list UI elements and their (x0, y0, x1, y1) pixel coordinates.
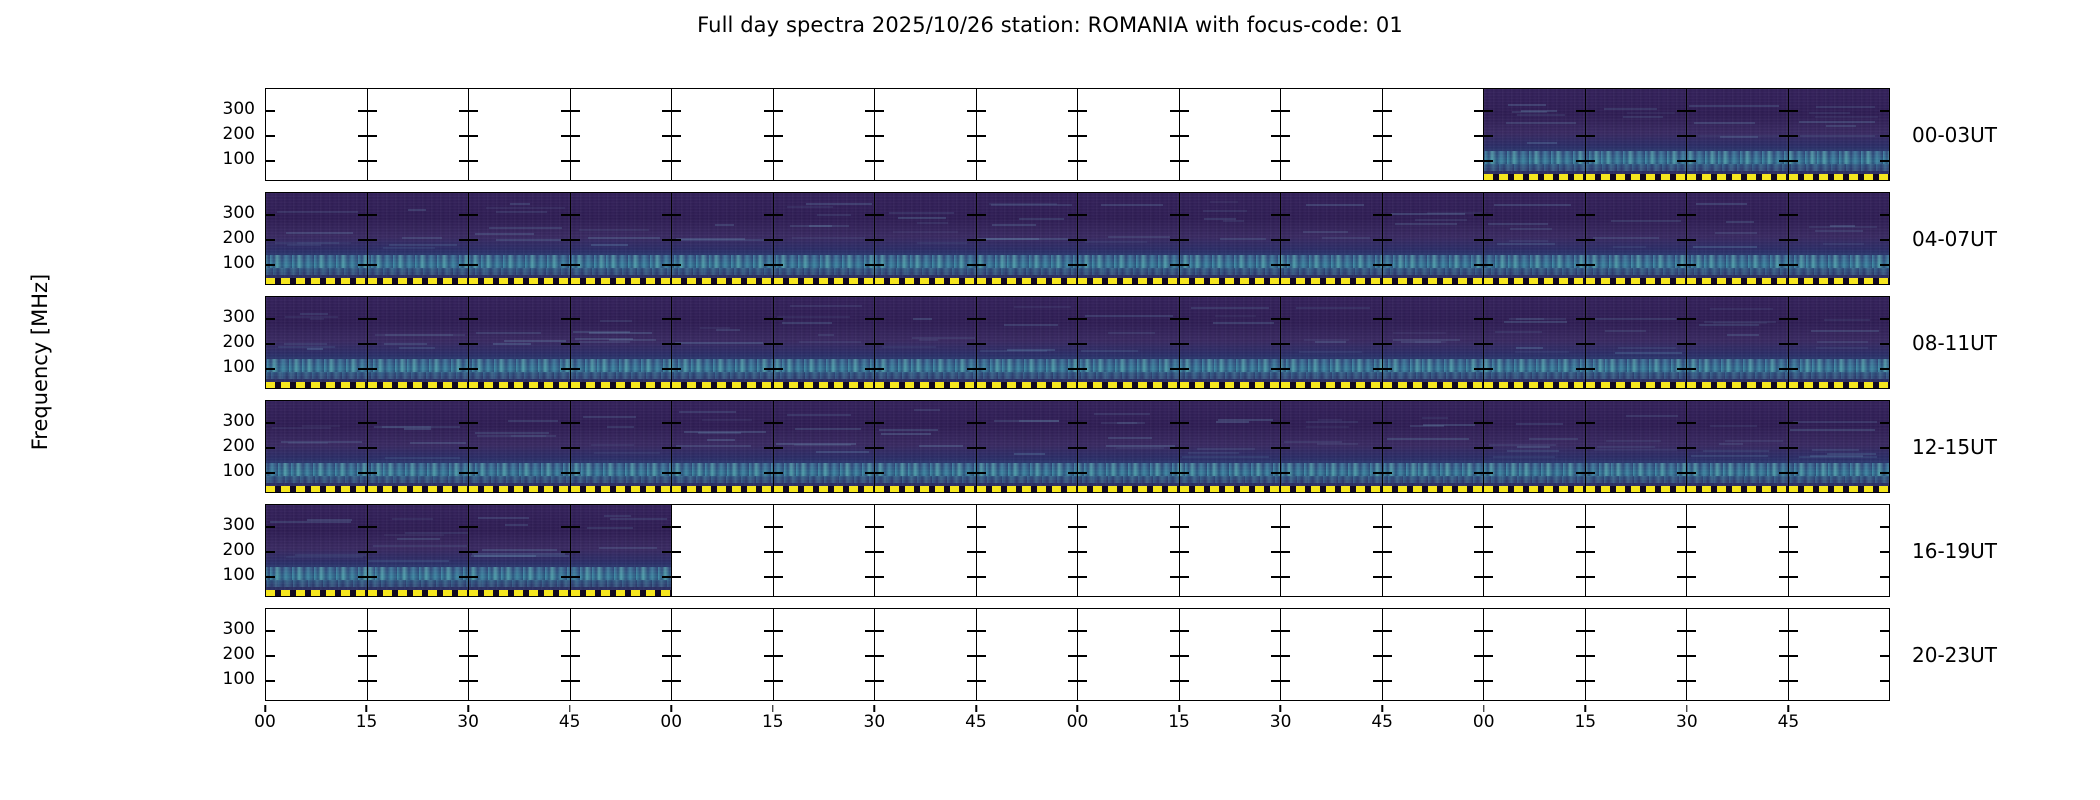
emission-streak (591, 444, 634, 446)
empty-cell (1383, 89, 1485, 180)
spectrogram-cell (571, 401, 673, 492)
y-tick-mark (1677, 110, 1686, 112)
y-tick-mark (774, 264, 783, 266)
emission-streak (486, 207, 565, 209)
emission-streak (475, 233, 534, 235)
y-tick-mark (1373, 368, 1382, 370)
y-tick-mark (865, 318, 874, 320)
emission-streak (1497, 243, 1555, 245)
y-tick-mark (1484, 318, 1493, 320)
y-tick-mark (672, 576, 681, 578)
y-tick-mark (1880, 472, 1889, 474)
y-tick-mark (1281, 264, 1290, 266)
y-tick-mark (662, 630, 671, 632)
y-tick-mark (266, 551, 275, 553)
y-tick-mark (1789, 551, 1798, 553)
empty-cell (1586, 505, 1688, 596)
spectrogram-row (265, 400, 1890, 493)
y-tick-mark (1170, 630, 1179, 632)
y-tick-mark (865, 472, 874, 474)
marker-band (1687, 174, 1788, 180)
emission-streak (1296, 307, 1371, 309)
y-tick-mark (1576, 447, 1585, 449)
emission-streak (1507, 450, 1559, 452)
spectrogram-cell (1687, 401, 1789, 492)
emission-streak (475, 432, 549, 434)
y-tick-mark (358, 239, 367, 241)
empty-cell (1078, 89, 1180, 180)
y-tick-mark (1779, 264, 1788, 266)
marker-band (977, 486, 1078, 492)
emission-band-secondary (1180, 372, 1281, 379)
marker-band (266, 382, 367, 388)
emission-band-secondary (977, 268, 1078, 275)
y-tick-mark (865, 680, 874, 682)
emission-streak (389, 244, 457, 246)
emission-streak (272, 427, 331, 429)
y-tick-mark (1373, 160, 1382, 162)
y-tick-mark (1170, 368, 1179, 370)
y-tick-mark (1271, 447, 1280, 449)
y-tick-mark (662, 526, 671, 528)
emission-band-secondary (1078, 476, 1179, 483)
y-tick-mark (571, 472, 580, 474)
y-tick-label: 300 (0, 203, 255, 223)
y-tick-mark (1474, 422, 1483, 424)
emission-streak (1415, 219, 1467, 221)
emission-band-secondary (469, 476, 570, 483)
emission-streak (600, 320, 632, 322)
x-tick-label: 45 (559, 712, 581, 732)
y-tick-mark (358, 422, 367, 424)
y-tick-mark (865, 655, 874, 657)
emission-band-secondary (1789, 164, 1890, 171)
x-tick-label: 30 (1270, 712, 1292, 732)
marker-band (571, 278, 672, 284)
spectrogram-cell (1687, 193, 1789, 284)
y-tick-mark (459, 576, 468, 578)
y-tick-mark (1078, 472, 1087, 474)
marker-band (1586, 174, 1687, 180)
emission-streak (1303, 231, 1348, 233)
y-tick-mark (1281, 447, 1290, 449)
y-tick-mark (1687, 551, 1696, 553)
y-tick-mark (764, 551, 773, 553)
y-tick-mark (1687, 680, 1696, 682)
emission-band (1383, 463, 1484, 476)
y-tick-mark (1281, 239, 1290, 241)
marker-band (368, 382, 469, 388)
y-tick-mark (977, 239, 986, 241)
y-tick-mark (662, 239, 671, 241)
emission-streak (1182, 456, 1269, 458)
y-tick-mark (1880, 264, 1889, 266)
emission-streak (1605, 330, 1646, 332)
x-tick-text: 15 (356, 712, 378, 732)
y-tick-mark (1779, 447, 1788, 449)
emission-streak (1627, 112, 1675, 114)
y-tick-mark (1586, 630, 1595, 632)
y-tick-mark (1170, 135, 1179, 137)
marker-band (469, 382, 570, 388)
y-tick-mark (1068, 576, 1077, 578)
x-tick-label: 15 (762, 712, 784, 732)
emission-streak (806, 203, 872, 205)
y-tick-label: 300 (0, 99, 255, 119)
y-tick-mark (1383, 264, 1392, 266)
emission-streak (1203, 210, 1247, 212)
x-tick-label: 45 (1778, 712, 1800, 732)
y-tick-mark (1078, 630, 1087, 632)
y-tick-mark (774, 368, 783, 370)
marker-band (1180, 278, 1281, 284)
y-tick-mark (967, 264, 976, 266)
y-tick-mark (977, 318, 986, 320)
spectrogram-cell (1180, 297, 1282, 388)
y-tick-mark (571, 551, 580, 553)
emission-streak (1004, 324, 1058, 326)
marker-band (1687, 486, 1788, 492)
y-tick-mark (1779, 214, 1788, 216)
y-tick-mark (1779, 551, 1788, 553)
spectrogram-cell (469, 193, 571, 284)
spectrogram-cell (1078, 401, 1180, 492)
y-tick-mark (1078, 343, 1087, 345)
y-tick-mark (1687, 318, 1696, 320)
emission-streak (1106, 445, 1175, 447)
emission-band (1789, 255, 1890, 268)
y-tick-mark (774, 472, 783, 474)
emission-streak (1213, 322, 1273, 324)
emission-streak (385, 457, 460, 459)
y-tick-mark (875, 472, 884, 474)
y-tick-mark (875, 422, 884, 424)
y-tick-mark (1474, 447, 1483, 449)
y-tick-mark (266, 318, 275, 320)
y-tick-mark (1180, 655, 1189, 657)
emission-band-secondary (1180, 268, 1281, 275)
y-tick-mark (1078, 576, 1087, 578)
y-tick-mark (358, 551, 367, 553)
y-tick-mark (764, 422, 773, 424)
marker-band (1281, 486, 1382, 492)
marker-band (571, 382, 672, 388)
emission-band-secondary (875, 268, 976, 275)
y-tick-mark (865, 239, 874, 241)
y-tick-mark (571, 239, 580, 241)
y-tick-mark (1281, 318, 1290, 320)
y-tick-mark (1687, 447, 1696, 449)
y-tick-mark (1484, 422, 1493, 424)
emission-streak (919, 445, 963, 447)
emission-streak (1019, 420, 1059, 422)
emission-band-secondary (977, 372, 1078, 379)
y-tick-mark (1078, 655, 1087, 657)
y-tick-mark (1789, 239, 1798, 241)
y-tick-mark (1068, 551, 1077, 553)
y-tick-mark (672, 214, 681, 216)
spectrogram-cell (774, 193, 876, 284)
emission-streak (992, 224, 1036, 226)
emission-streak (281, 441, 362, 443)
emission-streak (575, 338, 633, 340)
y-tick-mark (1068, 318, 1077, 320)
emission-streak (1216, 421, 1249, 423)
emission-streak (1823, 243, 1864, 245)
spectrogram-cell (1383, 401, 1485, 492)
y-tick-mark (1474, 576, 1483, 578)
y-tick-mark (571, 214, 580, 216)
emission-streak (1387, 438, 1469, 440)
y-tick-mark (1373, 680, 1382, 682)
emission-band-secondary (774, 268, 875, 275)
y-tick-mark (977, 655, 986, 657)
y-tick-mark (977, 447, 986, 449)
y-tick-mark (1474, 239, 1483, 241)
empty-cell (1078, 609, 1180, 700)
emission-band-secondary (875, 372, 976, 379)
emission-streak (474, 555, 536, 557)
y-tick-mark (865, 630, 874, 632)
y-tick-mark (662, 160, 671, 162)
y-tick-mark (571, 318, 580, 320)
marker-band (774, 382, 875, 388)
y-tick-mark (561, 214, 570, 216)
spectrogram-cell (977, 401, 1079, 492)
y-tick-mark (977, 264, 986, 266)
empty-cell (1789, 505, 1890, 596)
y-tick-mark (571, 526, 580, 528)
marker-band (1484, 486, 1585, 492)
y-tick-mark (1474, 472, 1483, 474)
emission-streak (986, 238, 1039, 240)
y-tick-mark (1281, 160, 1290, 162)
emission-streak (1315, 341, 1346, 343)
y-tick-mark (1078, 264, 1087, 266)
emission-band-secondary (1484, 476, 1585, 483)
marker-band (571, 486, 672, 492)
emission-streak (816, 451, 869, 453)
emission-streak (913, 318, 932, 320)
y-tick-mark (774, 655, 783, 657)
emission-band (875, 255, 976, 268)
emission-band-secondary (1383, 268, 1484, 275)
y-tick-mark (1576, 135, 1585, 137)
y-tick-mark (764, 343, 773, 345)
y-tick-mark (469, 576, 478, 578)
y-tick-mark (571, 447, 580, 449)
y-tick-mark (977, 368, 986, 370)
empty-cell (368, 609, 470, 700)
y-tick-mark (1281, 368, 1290, 370)
y-tick-mark (875, 368, 884, 370)
y-tick-mark (1281, 110, 1290, 112)
y-tick-mark (368, 551, 377, 553)
y-tick-mark (368, 160, 377, 162)
x-tick-mark (1788, 705, 1790, 712)
emission-band-secondary (672, 372, 773, 379)
y-tick-mark (1180, 447, 1189, 449)
emission-band (1180, 255, 1281, 268)
emission-streak (286, 232, 353, 234)
y-tick-mark (1281, 630, 1290, 632)
empty-cell (672, 505, 774, 596)
y-tick-mark (1677, 343, 1686, 345)
y-tick-mark (266, 680, 275, 682)
y-tick-mark (1180, 239, 1189, 241)
row-time-label: 04-07UT (1912, 227, 1997, 251)
y-tick-mark (1779, 239, 1788, 241)
emission-streak (893, 231, 959, 233)
emission-band (266, 359, 367, 372)
emission-streak (402, 237, 442, 239)
marker-band (368, 278, 469, 284)
y-tick-mark (1586, 422, 1595, 424)
y-tick-mark (1484, 526, 1493, 528)
y-tick-mark (977, 526, 986, 528)
spectrogram-cell (672, 193, 774, 284)
emission-streak (1504, 321, 1567, 323)
y-tick-mark (1576, 214, 1585, 216)
emission-streak (1597, 446, 1655, 448)
marker-band (672, 278, 773, 284)
y-tick-mark (1677, 447, 1686, 449)
emission-streak (587, 527, 633, 529)
emission-streak (792, 237, 865, 239)
spectrogram-cell (571, 193, 673, 284)
y-tick-mark (1373, 655, 1382, 657)
emission-band (1586, 359, 1687, 372)
empty-cell (774, 89, 876, 180)
y-tick-mark (571, 135, 580, 137)
y-tick-mark (774, 160, 783, 162)
x-tick-label: 00 (254, 712, 276, 732)
y-tick-mark (266, 343, 275, 345)
y-tick-mark (1180, 422, 1189, 424)
empty-cell (469, 89, 571, 180)
emission-streak (1699, 324, 1759, 326)
y-tick-mark (1779, 318, 1788, 320)
y-tick-mark (266, 447, 275, 449)
y-tick-mark (1677, 680, 1686, 682)
spectrogram-cell (1484, 89, 1586, 180)
emission-streak (1494, 204, 1571, 206)
emission-streak (373, 545, 467, 547)
y-tick-mark (1586, 160, 1595, 162)
emission-streak (1410, 425, 1444, 427)
y-tick-mark (1586, 368, 1595, 370)
y-tick-mark (1779, 680, 1788, 682)
x-tick-mark (1483, 705, 1485, 712)
spectrogram-cell (1687, 89, 1789, 180)
emission-streak (404, 428, 431, 430)
emission-streak (1726, 221, 1754, 223)
empty-cell (774, 505, 876, 596)
y-tick-label: 200 (0, 644, 255, 664)
emission-streak (307, 519, 352, 521)
y-tick-mark (1383, 680, 1392, 682)
spectrogram-cell (1789, 89, 1890, 180)
y-tick-mark (561, 551, 570, 553)
y-tick-mark (459, 214, 468, 216)
y-tick-mark (1576, 551, 1585, 553)
emission-streak (702, 419, 752, 421)
y-tick-mark (1180, 214, 1189, 216)
y-tick-mark (1474, 368, 1483, 370)
emission-streak (1318, 419, 1341, 421)
emission-streak (496, 239, 568, 241)
y-tick-mark (865, 343, 874, 345)
empty-cell (266, 609, 368, 700)
emission-streak (700, 327, 731, 329)
y-tick-mark (571, 576, 580, 578)
x-tick-mark (1381, 705, 1383, 712)
emission-band-secondary (1586, 268, 1687, 275)
y-tick-mark (266, 264, 275, 266)
y-tick-label: 300 (0, 619, 255, 639)
emission-streak (1809, 226, 1877, 228)
emission-streak (1689, 105, 1779, 107)
emission-streak (285, 316, 338, 318)
y-tick-mark (865, 110, 874, 112)
emission-band (977, 463, 1078, 476)
spectrogram-row (265, 504, 1890, 597)
emission-streak (1815, 116, 1878, 118)
marker-band (1078, 486, 1179, 492)
y-tick-mark (1180, 526, 1189, 528)
empty-cell (1687, 505, 1789, 596)
y-tick-mark (561, 422, 570, 424)
y-tick-mark (1281, 551, 1290, 553)
y-tick-mark (561, 239, 570, 241)
y-tick-mark (1586, 135, 1595, 137)
emission-band (571, 359, 672, 372)
x-tick-label: 15 (1168, 712, 1190, 732)
y-tick-mark (977, 680, 986, 682)
emission-streak (1014, 306, 1071, 308)
spectrogram-cell (571, 297, 673, 388)
y-tick-mark (1271, 264, 1280, 266)
y-tick-mark (358, 447, 367, 449)
emission-band (368, 463, 469, 476)
y-tick-mark (977, 214, 986, 216)
y-tick-mark (662, 135, 671, 137)
empty-cell (469, 609, 571, 700)
emission-band (1687, 359, 1788, 372)
emission-streak (508, 420, 558, 422)
y-tick-label: 200 (0, 540, 255, 560)
y-tick-mark (967, 110, 976, 112)
y-tick-mark (1078, 318, 1087, 320)
y-tick-mark (1677, 655, 1686, 657)
y-tick-mark (662, 264, 671, 266)
y-tick-mark (368, 447, 377, 449)
y-tick-mark (1677, 160, 1686, 162)
emission-streak (914, 409, 940, 411)
y-tick-mark (1789, 680, 1798, 682)
emission-streak (1116, 447, 1165, 449)
y-tick-mark (459, 318, 468, 320)
y-tick-mark (459, 526, 468, 528)
y-tick-mark (672, 422, 681, 424)
y-tick-label: 100 (0, 149, 255, 169)
y-tick-mark (1789, 447, 1798, 449)
row-time-label: 00-03UT (1912, 123, 1997, 147)
y-tick-mark (977, 551, 986, 553)
x-tick-label: 15 (356, 712, 378, 732)
emission-streak (310, 318, 324, 320)
emission-streak (1826, 125, 1855, 127)
